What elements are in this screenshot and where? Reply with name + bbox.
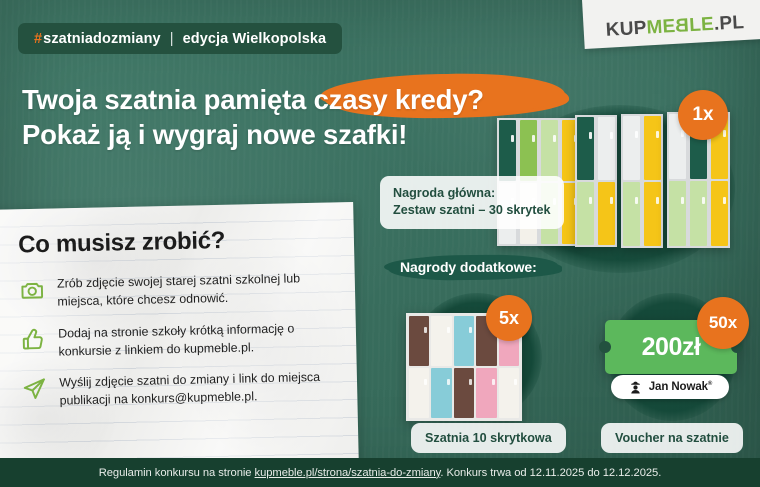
edition-label: edycja Wielkopolska	[183, 31, 327, 47]
instructions-content: Co musisz zrobić? Zrób zdjęcie swojej st…	[18, 225, 338, 426]
instruction-step-2-text: Dodaj na stronie szkoły krótką informacj…	[58, 319, 337, 361]
instruction-step-2: Dodaj na stronie szkoły krótką informacj…	[20, 319, 337, 362]
person-silhouette-icon	[628, 380, 643, 395]
voucher-prize-label: Voucher na szatnie	[601, 423, 743, 453]
hash-symbol: #	[34, 31, 42, 47]
footer-text-after: . Konkurs trwa od 12.11.2025 do 12.12.20…	[440, 467, 661, 479]
logo-pl: .PL	[713, 12, 744, 35]
voucher-amount: 200zł	[642, 333, 701, 362]
instructions-title: Co musisz zrobić?	[18, 225, 335, 260]
headline-text-a: Twoja szatnia pamięta	[22, 84, 314, 115]
main-prize-label-line1: Nagroda główna:	[393, 185, 551, 202]
locker-prize-quantity-badge: 5x	[486, 295, 532, 341]
headline-text-b: Pokaż ją i wygraj nowe szafki!	[22, 119, 407, 150]
instruction-step-3: Wyślij zdjęcie szatni do zmiany i link d…	[21, 369, 338, 412]
footer-link[interactable]: kupmeble.pl/strona/szatnia-do-zmiany	[255, 467, 441, 479]
promo-banner: KUPMEBLE.PL #szatniadozmiany | edycja Wi…	[0, 0, 760, 487]
instruction-step-1: Zrób zdjęcie swojej starej szatni szkoln…	[19, 270, 336, 313]
footer-text: Regulamin konkursu na stronie kupmeble.p…	[99, 467, 662, 479]
logo-kup: KUP	[605, 18, 647, 41]
partner-name: Jan Nowak®	[649, 381, 713, 393]
hashtag-badge: #szatniadozmiany | edycja Wielkopolska	[18, 23, 342, 54]
hashtag-label: szatniadozmiany	[43, 31, 161, 47]
main-prize-label-line2: Zestaw szatni – 30 skrytek	[393, 202, 551, 219]
paper-plane-icon	[21, 376, 48, 403]
footer-text-before: Regulamin konkursu na stronie	[99, 467, 255, 479]
voucher-prize-quantity-badge: 50x	[697, 297, 749, 349]
additional-prizes-heading: Nagrody dodatkowe:	[400, 259, 537, 275]
camera-icon	[19, 277, 46, 304]
logo-m: M	[646, 17, 663, 39]
logo-b-reversed: B	[675, 15, 690, 38]
locker-prize-label: Szatnia 10 skrytkowa	[411, 423, 566, 453]
headline-text-highlight: czasy kredy?	[314, 84, 484, 115]
main-prize-quantity-badge: 1x	[678, 90, 728, 140]
main-prize-label: Nagroda główna: Zestaw szatni – 30 skryt…	[380, 176, 564, 229]
footer-bar: Regulamin konkursu na stronie kupmeble.p…	[0, 458, 760, 487]
partner-badge: Jan Nowak®	[611, 375, 729, 399]
logo-le: LE	[689, 14, 715, 36]
hashtag-separator: |	[170, 31, 174, 47]
thumbs-up-icon	[20, 327, 47, 354]
instruction-step-3-text: Wyślij zdjęcie szatni do zmiany i link d…	[59, 369, 338, 411]
instruction-step-1-text: Zrób zdjęcie swojej starej szatni szkoln…	[57, 270, 336, 312]
